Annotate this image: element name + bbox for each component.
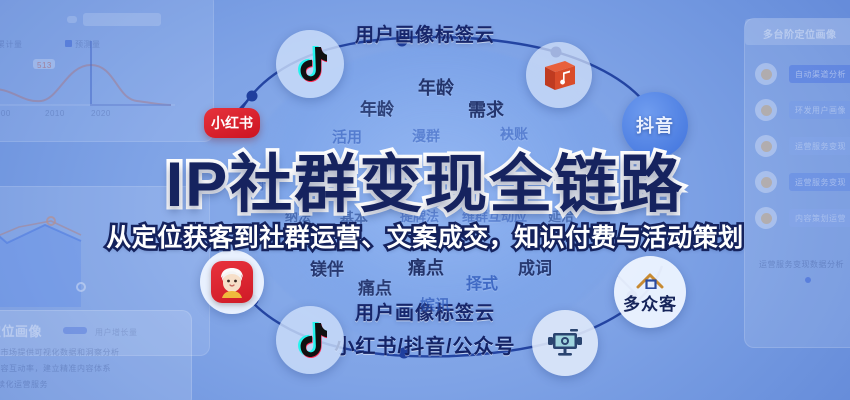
tag-item: 成词 xyxy=(518,254,552,279)
node-projector[interactable] xyxy=(532,310,598,376)
tag-item: 年龄 xyxy=(360,95,394,120)
projector-icon xyxy=(545,327,585,359)
banner-canvas: 新增量 累计量 预测量 513 1990 2000 2010 2020 6.63… xyxy=(0,0,850,400)
tag-item: 需求 xyxy=(468,96,504,122)
tag-item: 痛点 xyxy=(408,254,444,280)
music-box-icon xyxy=(539,55,579,95)
tiktok-icon xyxy=(293,45,327,83)
tag-item: 择式 xyxy=(466,270,498,294)
tag-item: 镁伴 xyxy=(310,255,344,280)
tag-item: 嫔讯 xyxy=(420,294,450,315)
node-duozhongke[interactable]: 多众客 xyxy=(614,256,686,328)
home-icon xyxy=(636,272,664,289)
xiaohongshu-label: 小红书 xyxy=(211,113,253,133)
tiktok-icon xyxy=(293,321,327,359)
platform-footer-text: 小红书/抖音/公众号 xyxy=(0,330,850,359)
page-subtitle: 从定位获客到社群运营、文案成交，知识付费与活动策划 xyxy=(0,218,850,254)
duozhongke-label: 多众客 xyxy=(623,290,677,315)
girl-avatar-icon xyxy=(216,266,248,298)
node-douyin-top[interactable] xyxy=(276,30,344,98)
node-douyin-bottom[interactable] xyxy=(276,306,344,374)
page-title: IP社群变现全链路 xyxy=(0,134,850,225)
tag-item: 痛点 xyxy=(358,274,392,299)
tag-item: 年龄 xyxy=(418,74,454,100)
ring-title-top: 用户画像标签云 xyxy=(355,20,495,47)
node-music-box[interactable] xyxy=(526,42,592,108)
girl-avatar-app-tile xyxy=(211,261,253,303)
node-avatar-app[interactable] xyxy=(200,250,264,314)
